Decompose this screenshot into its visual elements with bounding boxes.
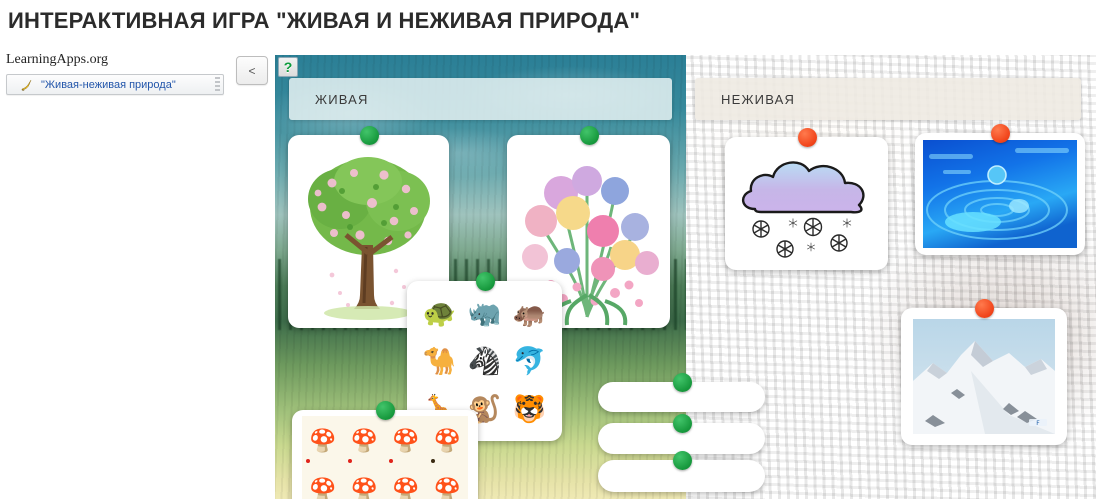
marker-dot-green <box>580 126 599 145</box>
mushroom-icon: 🍄 <box>309 479 336 499</box>
sidebar: LearningApps.org "Живая-неживая природа" <box>0 52 230 112</box>
category-label-nonlive: НЕЖИВАЯ <box>695 92 795 107</box>
water-drop-photo <box>923 140 1077 248</box>
card-snow-cloud[interactable] <box>725 137 888 270</box>
marker-dot-green <box>476 272 495 291</box>
card-mushrooms-inner: 🍄 🍄 🍄 🍄 🍄 🍄 🍄 🍄 <box>292 410 478 499</box>
marker-dot-green <box>360 126 379 145</box>
list-scroll-grip[interactable] <box>215 77 220 91</box>
hippo-icon: 🦛 <box>513 300 547 327</box>
mushroom-icon: 🍄 <box>434 430 461 452</box>
help-icon[interactable]: ? <box>278 57 298 77</box>
category-header-nonlive: НЕЖИВАЯ <box>695 78 1081 120</box>
zebra-icon: 🦓 <box>468 348 502 375</box>
mushroom-icon: 🍄 <box>434 479 461 499</box>
mushroom-cell: 🍄 <box>385 465 427 499</box>
game-stage: ? ЖИВАЯ НЕЖИВАЯ <box>275 55 1096 499</box>
empty-drop-slot[interactable] <box>598 460 765 492</box>
empty-drop-slot[interactable] <box>598 382 765 412</box>
app-list-item-label: "Живая-неживая природа" <box>41 79 176 91</box>
app-list-item[interactable]: "Живая-неживая природа" <box>6 74 224 95</box>
tiger-icon: 🐯 <box>513 396 547 423</box>
mushroom-cell: 🍄 <box>385 416 427 465</box>
card-cloud-inner <box>725 137 888 270</box>
mushroom-icon: 🍄 <box>392 430 419 452</box>
mushroom-cell: 🍄 <box>302 416 344 465</box>
mushroom-icon: 🍄 <box>351 479 378 499</box>
mushroom-cell: 🍄 <box>427 465 469 499</box>
svg-text:F: F <box>1036 420 1040 427</box>
learningapps-logo-icon <box>19 78 33 92</box>
marker-dot-red <box>975 299 994 318</box>
page-title: ИНТЕРАКТИВНАЯ ИГРА "ЖИВАЯ И НЕЖИВАЯ ПРИР… <box>8 8 1088 38</box>
marker-dot-red <box>991 124 1010 143</box>
rhino-icon: 🦏 <box>468 300 502 327</box>
camel-icon: 🐪 <box>423 348 457 375</box>
mushroom-icon: 🍄 <box>351 430 378 452</box>
card-mountains[interactable]: F <box>901 308 1067 445</box>
marker-dot-red <box>798 128 817 147</box>
card-mushrooms[interactable]: 🍄 🍄 🍄 🍄 🍄 🍄 🍄 🍄 <box>292 410 478 499</box>
marker-dot-green <box>673 373 692 392</box>
snow-cloud-image <box>725 137 888 270</box>
category-label-live: ЖИВАЯ <box>289 92 369 107</box>
mushroom-cell: 🍄 <box>302 465 344 499</box>
help-icon-glyph: ? <box>284 60 293 74</box>
mushroom-icon: 🍄 <box>392 479 419 499</box>
mushrooms-chart-image: 🍄 🍄 🍄 🍄 🍄 🍄 🍄 🍄 <box>302 416 468 499</box>
mushroom-cell: 🍄 <box>427 416 469 465</box>
marker-dot-green <box>673 414 692 433</box>
card-water[interactable] <box>915 133 1085 255</box>
brand-label: LearningApps.org <box>0 52 230 68</box>
category-header-live: ЖИВАЯ <box>289 78 672 120</box>
turtle-icon: 🐢 <box>423 300 457 327</box>
back-button[interactable]: < <box>236 56 268 85</box>
mushroom-cell: 🍄 <box>344 416 386 465</box>
card-mountains-inner: F <box>901 308 1067 445</box>
empty-drop-slot[interactable] <box>598 423 765 454</box>
dolphin-icon: 🐬 <box>513 348 547 375</box>
marker-dot-green <box>673 451 692 470</box>
app-root: ИНТЕРАКТИВНАЯ ИГРА "ЖИВАЯ И НЕЖИВАЯ ПРИР… <box>0 0 1096 499</box>
mushroom-icon: 🍄 <box>309 430 336 452</box>
marker-dot-green <box>376 401 395 420</box>
mushroom-cell: 🍄 <box>344 465 386 499</box>
card-water-inner <box>915 133 1085 255</box>
snowy-mountains-photo: F <box>913 319 1055 434</box>
